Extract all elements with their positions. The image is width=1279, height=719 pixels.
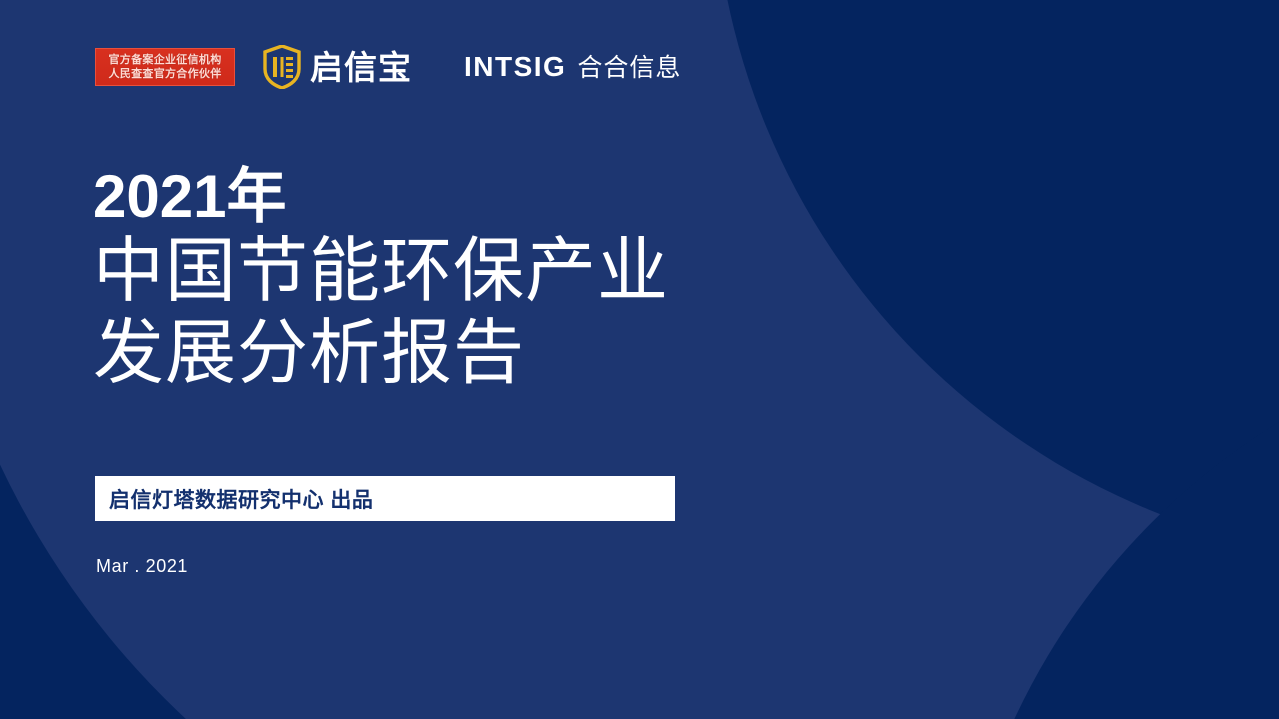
qixinbao-wordmark: 启信宝 [310, 51, 412, 84]
title-line-1: 中国节能环保产业 [93, 231, 733, 313]
publisher-bar: 启信灯塔数据研究中心 出品 [95, 476, 675, 521]
badge-line-1: 官方备案企业征信机构 [109, 53, 222, 67]
intsig-logo: INTSIG 合合信息 [464, 53, 681, 81]
publisher-label: 启信灯塔数据研究中心 出品 [109, 484, 373, 514]
qixinbao-logo: 启信宝 [263, 45, 412, 89]
arc-shape-inner [713, 0, 1279, 563]
title-year: 2021年 [93, 163, 733, 231]
title-block: 2021年 中国节能环保产业 发展分析报告 [93, 163, 733, 395]
title-line-2: 发展分析报告 [93, 313, 733, 395]
intsig-latin-wordmark: INTSIG [464, 53, 566, 81]
header-logo-row: 官方备案企业征信机构 人民查查官方合作伙伴 启信宝 INTSIG 合合信息 [95, 42, 681, 92]
publication-date: Mar . 2021 [96, 556, 188, 577]
intsig-chinese-wordmark: 合合信息 [577, 56, 681, 81]
report-cover-slide: 官方备案企业征信机构 人民查查官方合作伙伴 启信宝 INTSIG 合合信息 20… [0, 0, 1279, 719]
official-credit-agency-badge: 官方备案企业征信机构 人民查查官方合作伙伴 [95, 48, 235, 86]
badge-line-2: 人民查查官方合作伙伴 [109, 67, 222, 81]
arc-shape-lower [950, 320, 1279, 719]
shield-icon [263, 45, 301, 89]
